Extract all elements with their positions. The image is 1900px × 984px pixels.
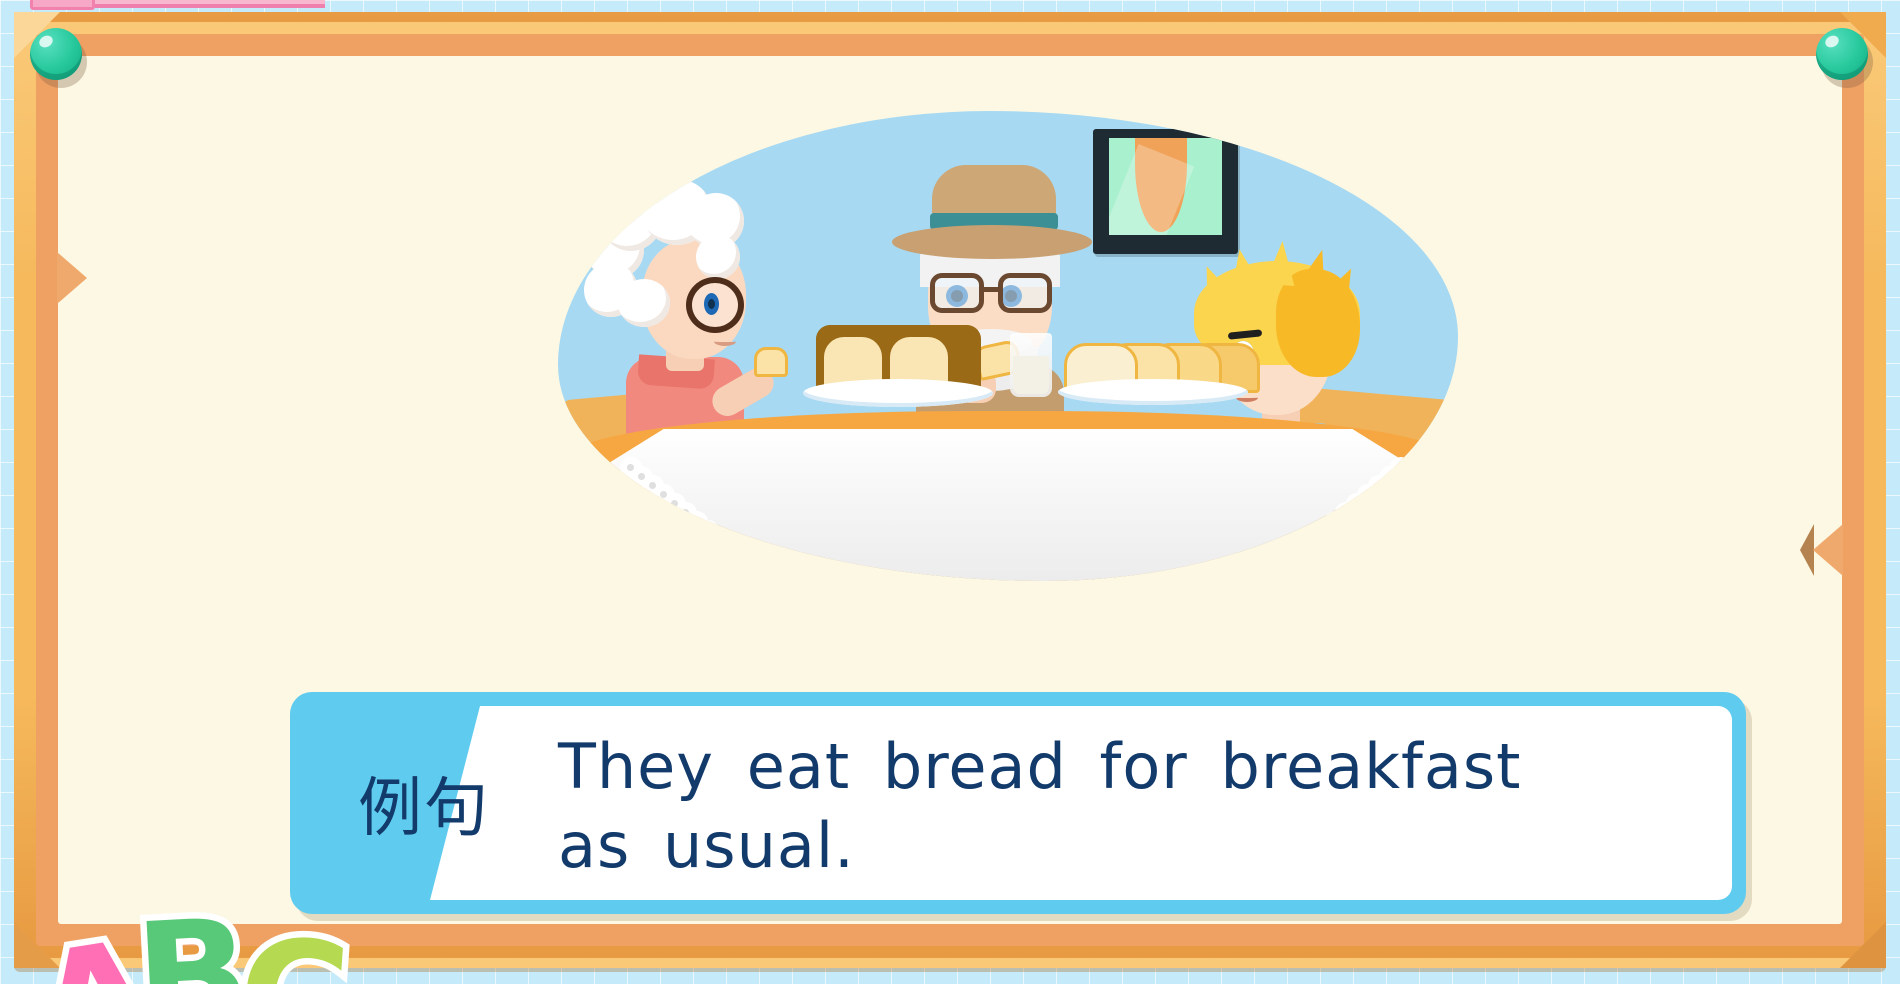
right-edge-notch-icon	[1813, 524, 1843, 576]
letter-b: B	[132, 905, 253, 984]
illustration-family-breakfast	[558, 111, 1458, 581]
example-label-text: 例句	[358, 757, 490, 849]
pink-tape-strip-long	[95, 0, 325, 8]
scene-background-blob	[558, 111, 1458, 581]
example-sentence-box: 例句 They eat bread for breakfast as usual…	[290, 692, 1746, 914]
example-label-tab: 例句	[290, 692, 540, 914]
example-sentence-text: They eat bread for breakfast as usual.	[558, 716, 1690, 896]
grandmother-mouth	[714, 337, 736, 346]
hair-spike	[1265, 240, 1298, 286]
pushpin-top-right-icon[interactable]	[1816, 28, 1870, 82]
grandfather-hat-brim	[892, 225, 1092, 259]
left-edge-notch-icon	[57, 252, 87, 304]
grandmother-eye	[704, 293, 719, 315]
glass-of-milk-icon	[1010, 333, 1052, 397]
plate-with-slices	[1058, 379, 1248, 405]
letter-c: C	[235, 924, 354, 984]
grandfather-glasses-icon	[930, 273, 1052, 313]
hair-spike	[1225, 247, 1261, 292]
cream-page-sheet: 例句 They eat bread for breakfast as usual…	[58, 56, 1842, 924]
pink-tape-strip	[30, 0, 95, 10]
grandmother-bread-slice	[754, 347, 788, 377]
plate-with-loaf	[803, 379, 993, 407]
right-edge-notch-shadow	[1800, 524, 1814, 576]
abc-decorative-letters: A B C	[34, 912, 351, 984]
pushpin-top-left-icon[interactable]	[30, 28, 84, 82]
wooden-board-frame: 例句 They eat bread for breakfast as usual…	[14, 12, 1886, 968]
